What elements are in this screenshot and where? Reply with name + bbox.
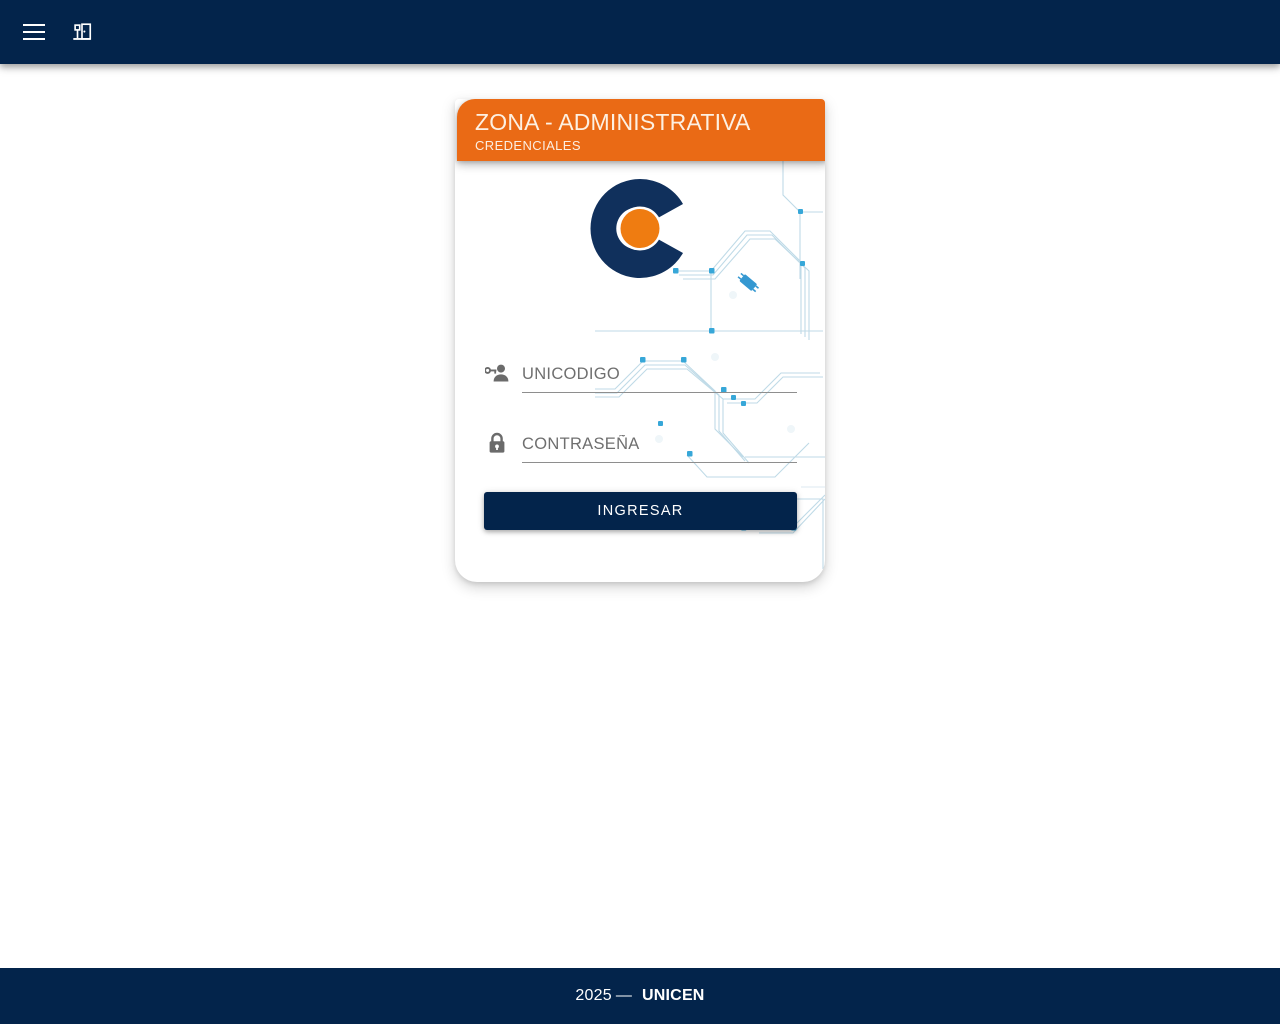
- person-key-icon: [484, 360, 510, 386]
- login-card-body: INGRESAR: [455, 161, 825, 582]
- username-underline: [522, 361, 797, 393]
- unicen-c-logo: [590, 177, 690, 280]
- lock-icon: [484, 430, 510, 456]
- card-title: ZONA - ADMINISTRATIVA: [475, 108, 825, 136]
- password-underline: [522, 431, 797, 463]
- card-header: ZONA - ADMINISTRATIVA CREDENCIALES: [457, 99, 825, 161]
- hamburger-icon: [23, 24, 45, 40]
- login-door-icon: [71, 21, 93, 43]
- submit-button[interactable]: INGRESAR: [484, 492, 797, 530]
- page-footer: 2025 — UNICEN: [0, 968, 1280, 1024]
- footer-year: 2025: [575, 987, 611, 1005]
- username-input[interactable]: [522, 365, 797, 388]
- login-door-button[interactable]: [60, 10, 104, 54]
- footer-organization: UNICEN: [642, 987, 705, 1005]
- username-field-group[interactable]: [484, 353, 797, 393]
- page-content: INGRESAR ZONA - ADMINISTRATIVA CREDENCIA…: [0, 64, 1280, 968]
- login-card: INGRESAR ZONA - ADMINISTRATIVA CREDENCIA…: [455, 99, 825, 582]
- footer-separator: —: [616, 987, 632, 1005]
- menu-button[interactable]: [12, 10, 56, 54]
- password-input[interactable]: [522, 435, 797, 458]
- login-card-wrapper: INGRESAR ZONA - ADMINISTRATIVA CREDENCIA…: [455, 82, 825, 582]
- password-field-group[interactable]: [484, 423, 797, 463]
- card-subtitle: CREDENCIALES: [475, 137, 825, 155]
- top-app-bar: [0, 0, 1280, 64]
